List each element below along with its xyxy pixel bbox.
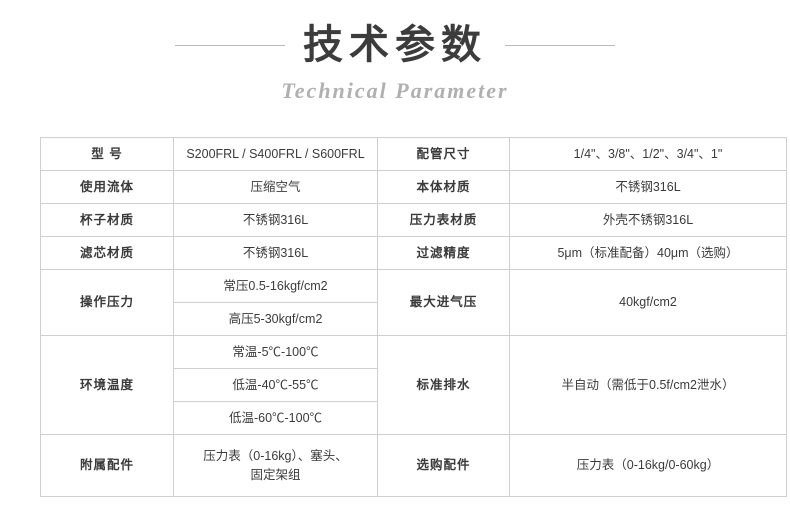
spec-sheet-page: 技术参数 Technical Parameter 型 号 S200FRL / S… <box>0 0 790 519</box>
row-value-filter-material: 不锈钢316L <box>174 237 378 270</box>
row-value-gauge-material: 外壳不锈钢316L <box>510 204 787 237</box>
row-value-cup-material: 不锈钢316L <box>174 204 378 237</box>
title-row: 技术参数 <box>0 22 790 68</box>
title-rule-left <box>175 45 285 46</box>
row-label-pipe-size: 配管尺寸 <box>378 138 510 171</box>
row-value-ambient-low-60: 低温-60℃-100℃ <box>174 402 378 435</box>
title-rule-right <box>505 45 615 46</box>
row-value-operating-pressure-normal: 常压0.5-16kgf/cm2 <box>174 270 378 303</box>
page-header: 技术参数 Technical Parameter <box>0 0 790 104</box>
table-row: 型 号 S200FRL / S400FRL / S600FRL 配管尺寸 1/4… <box>41 138 787 171</box>
row-label-fluid: 使用流体 <box>41 171 174 204</box>
row-value-operating-pressure-high: 高压5-30kgf/cm2 <box>174 303 378 336</box>
row-label-cup-material: 杯子材质 <box>41 204 174 237</box>
row-label-max-inlet-pressure: 最大进气压 <box>378 270 510 336</box>
row-label-standard-drain: 标准排水 <box>378 336 510 435</box>
row-label-optional-accessories: 选购配件 <box>378 435 510 497</box>
row-value-max-inlet-pressure: 40kgf/cm2 <box>510 270 787 336</box>
table-row: 滤芯材质 不锈钢316L 过滤精度 5μm（标准配备）40μm（选购） <box>41 237 787 270</box>
page-title: 技术参数 <box>303 22 487 68</box>
row-label-accessories: 附属配件 <box>41 435 174 497</box>
spec-table-wrapper: 型 号 S200FRL / S400FRL / S600FRL 配管尺寸 1/4… <box>40 137 750 497</box>
row-label-ambient-temperature: 环境温度 <box>41 336 174 435</box>
row-value-ambient-low-40: 低温-40℃-55℃ <box>174 369 378 402</box>
page-subtitle: Technical Parameter <box>0 78 790 104</box>
row-label-filter-material: 滤芯材质 <box>41 237 174 270</box>
row-label-body-material: 本体材质 <box>378 171 510 204</box>
row-value-pipe-size: 1/4"、3/8"、1/2"、3/4"、1" <box>510 138 787 171</box>
table-row: 使用流体 压缩空气 本体材质 不锈钢316L <box>41 171 787 204</box>
row-value-body-material: 不锈钢316L <box>510 171 787 204</box>
row-value-filtration: 5μm（标准配备）40μm（选购） <box>510 237 787 270</box>
row-label-gauge-material: 压力表材质 <box>378 204 510 237</box>
table-row: 附属配件 压力表（0-16kg）、塞头、 固定架组 选购配件 压力表（0-16k… <box>41 435 787 497</box>
row-value-fluid: 压缩空气 <box>174 171 378 204</box>
spec-table: 型 号 S200FRL / S400FRL / S600FRL 配管尺寸 1/4… <box>40 137 787 497</box>
row-label-operating-pressure: 操作压力 <box>41 270 174 336</box>
row-label-filtration: 过滤精度 <box>378 237 510 270</box>
table-row: 环境温度 常温-5℃-100℃ 标准排水 半自动（需低于0.5f/cm2泄水） <box>41 336 787 369</box>
row-value-accessories: 压力表（0-16kg）、塞头、 固定架组 <box>174 435 378 497</box>
row-value-model: S200FRL / S400FRL / S600FRL <box>174 138 378 171</box>
row-value-standard-drain: 半自动（需低于0.5f/cm2泄水） <box>510 336 787 435</box>
accessories-line-1: 压力表（0-16kg）、塞头、 <box>178 447 373 465</box>
row-value-ambient-normal: 常温-5℃-100℃ <box>174 336 378 369</box>
table-row: 杯子材质 不锈钢316L 压力表材质 外壳不锈钢316L <box>41 204 787 237</box>
table-row: 操作压力 常压0.5-16kgf/cm2 最大进气压 40kgf/cm2 <box>41 270 787 303</box>
row-value-optional-accessories: 压力表（0-16kg/0-60kg） <box>510 435 787 497</box>
accessories-line-2: 固定架组 <box>178 466 373 484</box>
row-label-model: 型 号 <box>41 138 174 171</box>
